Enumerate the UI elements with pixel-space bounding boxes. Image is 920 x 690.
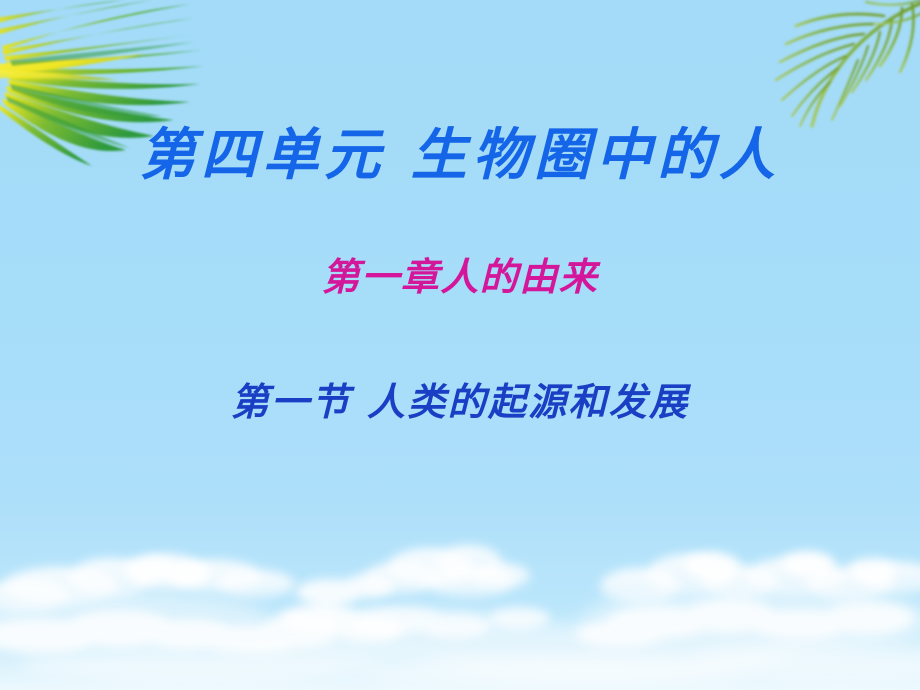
unit-title: 第四单元 生物圈中的人: [0, 128, 920, 184]
presentation-slide: 第四单元 生物圈中的人 第一章人的由来 第一节 人类的起源和发展: [0, 0, 920, 690]
chapter-title: 第一章人的由来: [0, 258, 920, 296]
slide-text-layer: 第四单元 生物圈中的人 第一章人的由来 第一节 人类的起源和发展: [0, 0, 920, 690]
section-title: 第一节 人类的起源和发展: [0, 383, 920, 421]
